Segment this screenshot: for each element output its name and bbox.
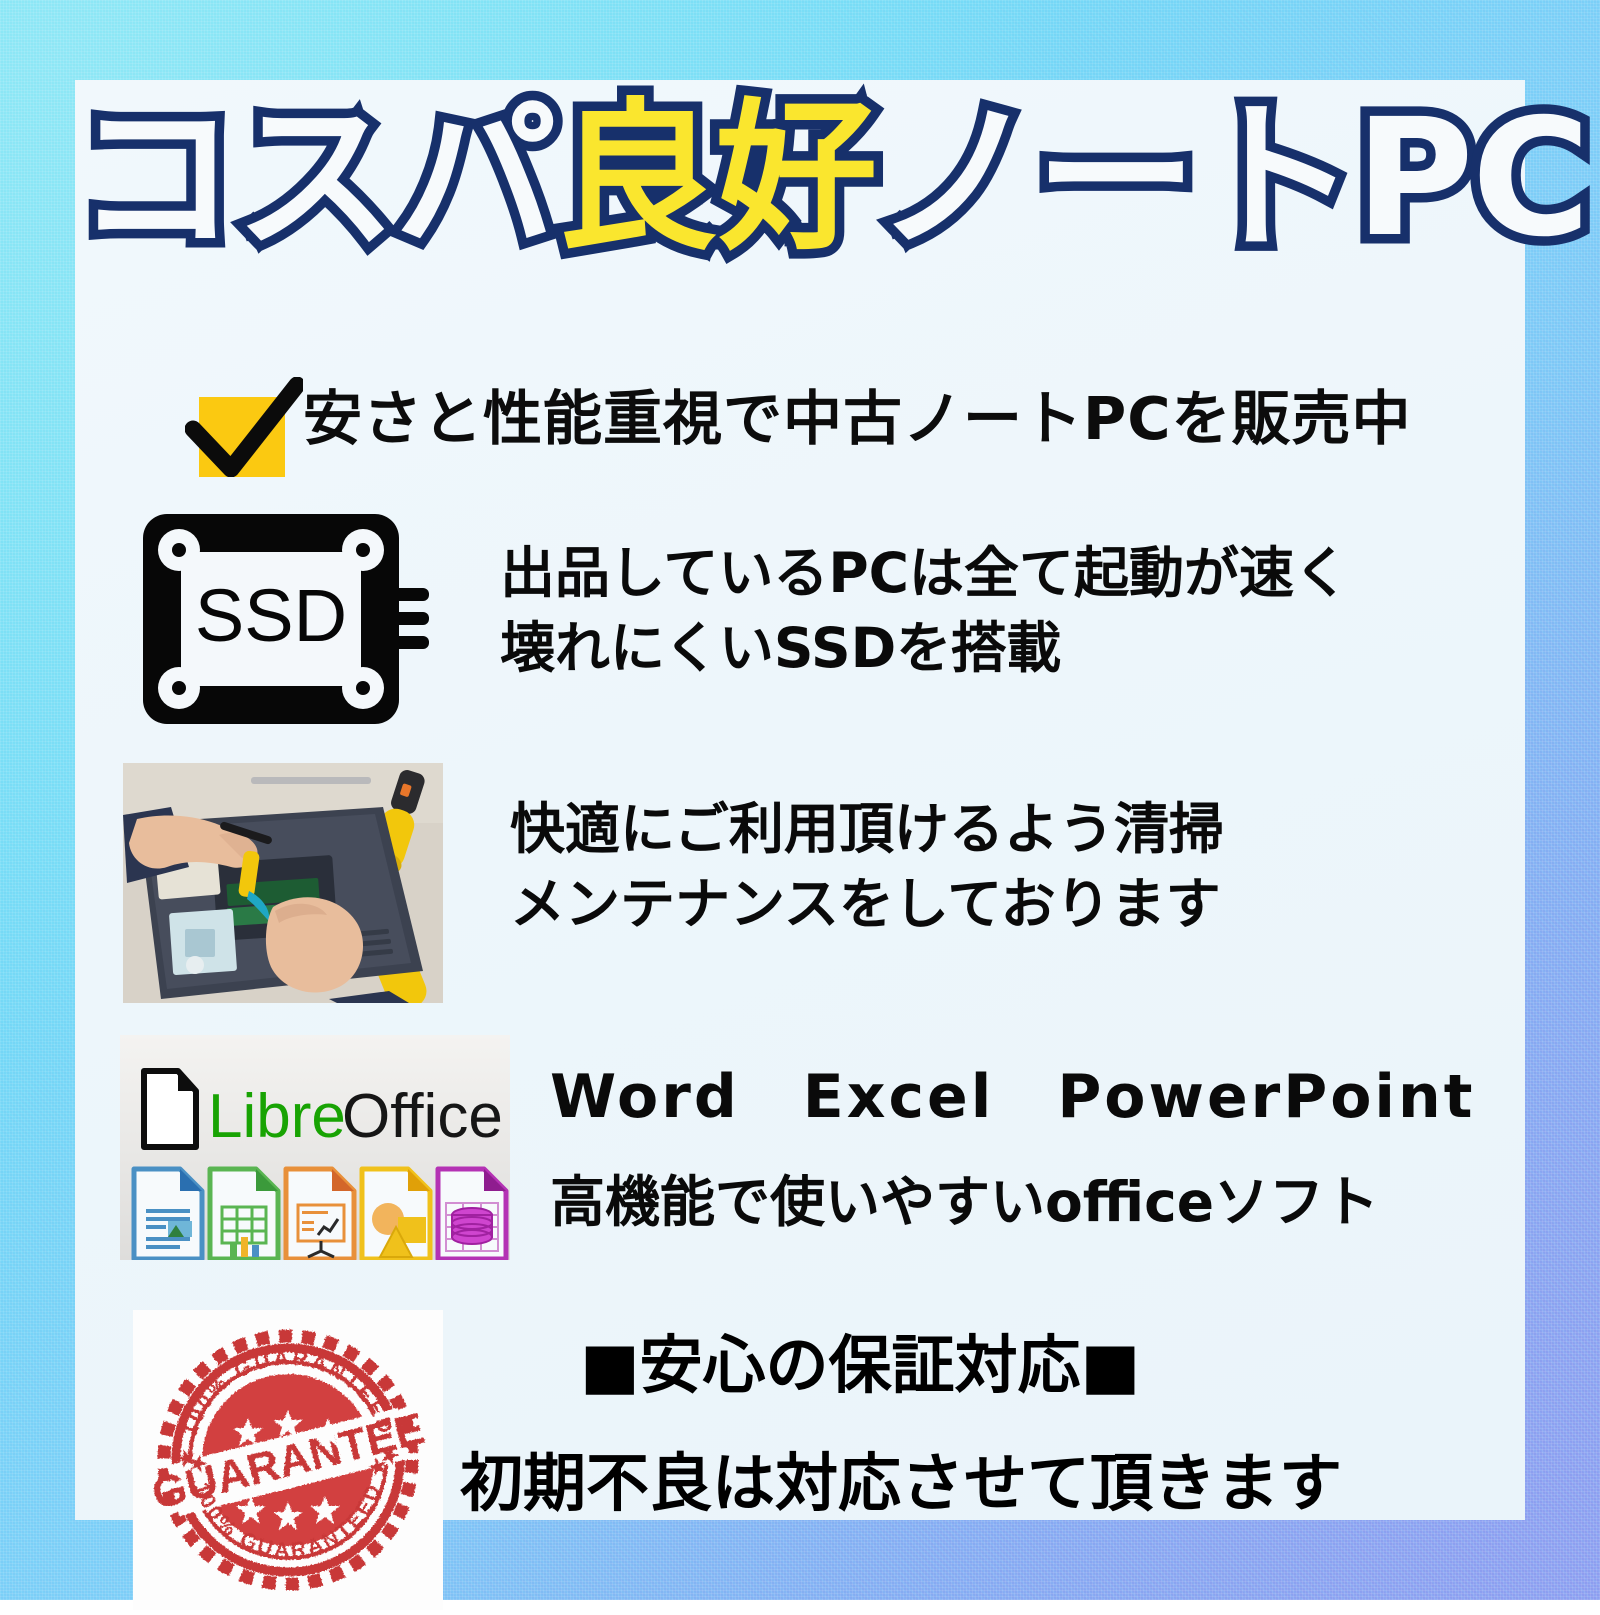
ssd-icon-label: SSD [195,574,347,657]
laptop-repair-photo [123,763,443,1003]
feature-row-ssd: SSD 出品しているPCは全て起動が速く 壊れにくいSSDを搭載 [75,500,1525,750]
office-line-1: Word Excel PowerPoint [550,1048,1475,1135]
poster-card: コスパ良好ノートPC！ 安さと性能重視で中古ノートPCを販売中 [75,80,1525,1520]
title-part-3: ノートPC！ [875,85,1600,273]
poster-title: コスパ良好ノートPC！ [75,98,1525,260]
guarantee-line-1: ■安心の保証対応■ [460,1330,1342,1402]
maintenance-line-2: メンテナンスをしております [510,867,1224,942]
libreoffice-app-icons [134,1169,506,1259]
title-text: コスパ良好ノートPC！ [75,98,1600,260]
feature-row-office: Libre Office [75,1030,1525,1270]
guarantee-line-2: 初期不良は対応させて頂きます [460,1448,1342,1520]
poster-canvas: コスパ良好ノートPC！ 安さと性能重視で中古ノートPCを販売中 [0,0,1600,1600]
ssd-drive-icon: SSD [135,508,440,730]
office-feature-text: Word Excel PowerPoint 高機能で使いやすいofficeソフト [550,1048,1475,1237]
maintenance-feature-text: 快適にご利用頂けるよう清掃 メンテナンスをしております [510,792,1224,942]
libreoffice-logo: Libre Office [120,1035,510,1260]
guarantee-stamp: GUARANTEE ★ 100% G [133,1310,443,1610]
headline-text: 安さと性能重視で中古ノートPCを販売中 [303,371,1412,456]
title-part-1: コスパ [75,85,555,273]
checkmark-icon [185,377,303,473]
ssd-line-1: 出品しているPCは全て起動が速く [500,536,1349,611]
libre-wordmark-libre: Libre [208,1082,346,1151]
guarantee-feature-text: ■安心の保証対応■ 初期不良は対応させて頂きます [460,1330,1342,1521]
feature-row-maintenance: 快適にご利用頂けるよう清掃 メンテナンスをしております [75,760,1525,1015]
ssd-line-2: 壊れにくいSSDを搭載 [500,611,1349,686]
libre-wordmark-office: Office [342,1082,503,1151]
check-icon [185,377,303,477]
ssd-feature-text: 出品しているPCは全て起動が速く 壊れにくいSSDを搭載 [500,536,1349,686]
feature-row-guarantee: GUARANTEE ★ 100% G [75,1285,1525,1615]
maintenance-line-1: 快適にご利用頂けるよう清掃 [510,792,1224,867]
office-line-2: 高機能で使いやすいofficeソフト [550,1157,1475,1237]
title-part-highlight: 良好 [555,85,875,273]
headline-row: 安さと性能重視で中古ノートPCを販売中 [175,365,1505,475]
